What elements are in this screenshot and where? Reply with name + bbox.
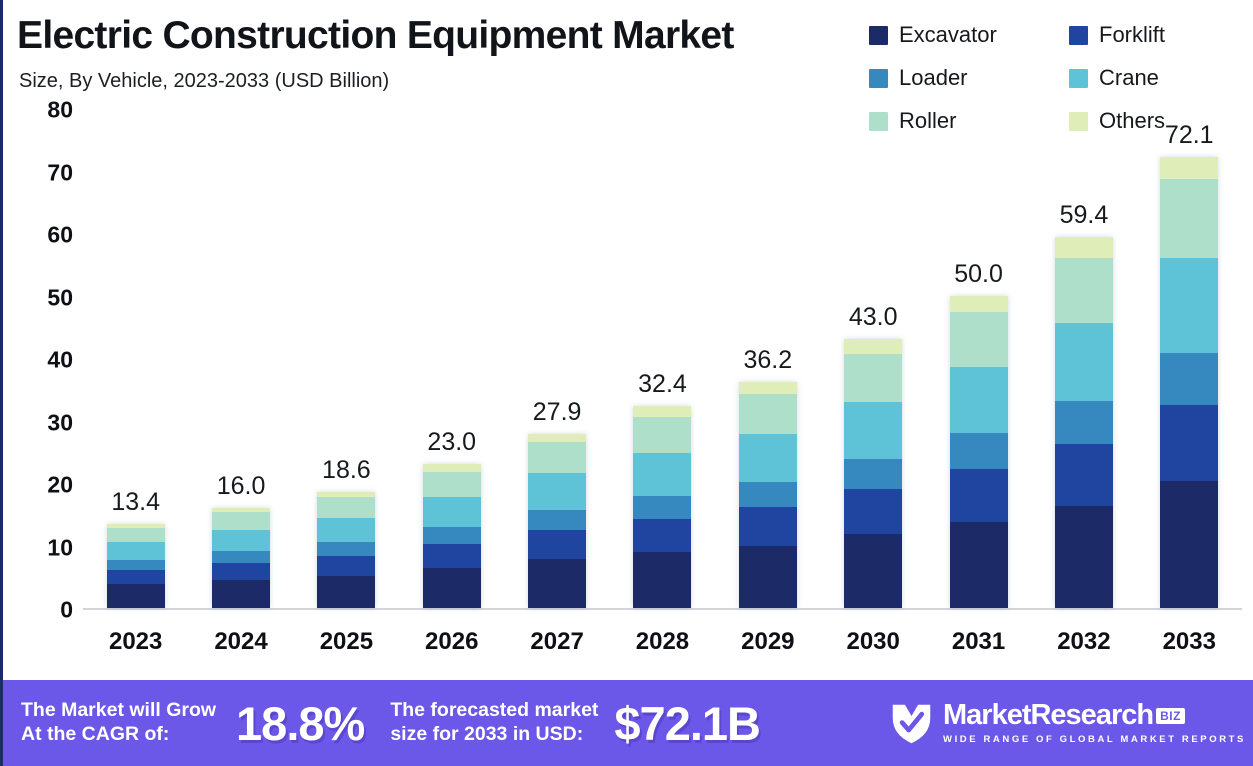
x-axis-tick: 2024 bbox=[197, 628, 285, 656]
bar-column[interactable]: 43.0 bbox=[829, 110, 917, 608]
bar-segment-others[interactable] bbox=[1055, 237, 1113, 258]
bar-value-label: 72.1 bbox=[1165, 121, 1214, 150]
bar-segment-loader[interactable] bbox=[1160, 353, 1218, 405]
bar-segment-crane[interactable] bbox=[1160, 258, 1218, 353]
bar-segment-roller[interactable] bbox=[633, 417, 691, 453]
bar-segment-roller[interactable] bbox=[107, 528, 165, 542]
bar-segment-others[interactable] bbox=[1160, 157, 1218, 179]
chart-subtitle: Size, By Vehicle, 2023-2033 (USD Billion… bbox=[19, 70, 389, 93]
bar-segment-excavator[interactable] bbox=[317, 576, 375, 609]
bar-segment-forklift[interactable] bbox=[423, 544, 481, 568]
bar-segment-others[interactable] bbox=[528, 434, 586, 443]
x-axis-tick: 2023 bbox=[92, 628, 180, 656]
bar-value-label: 23.0 bbox=[427, 428, 476, 457]
y-axis-tick: 60 bbox=[47, 222, 73, 249]
x-axis-tick: 2030 bbox=[829, 628, 917, 656]
bar-segment-others[interactable] bbox=[844, 339, 902, 354]
forecast-label-line1: The forecasted market bbox=[390, 699, 598, 721]
bar-stack[interactable] bbox=[423, 464, 481, 608]
bar-segment-excavator[interactable] bbox=[212, 580, 270, 608]
cagr-label-line1: The Market will Grow bbox=[21, 699, 216, 721]
bar-segment-excavator[interactable] bbox=[1055, 506, 1113, 608]
bar-segment-roller[interactable] bbox=[739, 394, 797, 434]
bar-segment-forklift[interactable] bbox=[212, 563, 270, 580]
bar-segment-excavator[interactable] bbox=[633, 552, 691, 608]
y-axis-tick: 40 bbox=[47, 347, 73, 374]
bar-column[interactable]: 23.0 bbox=[408, 110, 496, 608]
bar-segment-forklift[interactable] bbox=[844, 489, 902, 534]
bar-stack[interactable] bbox=[1160, 157, 1218, 608]
legend-swatch-icon bbox=[1069, 69, 1088, 88]
y-axis-tick: 70 bbox=[47, 159, 73, 186]
bar-segment-excavator[interactable] bbox=[1160, 481, 1218, 608]
forecast-value: $72.1B bbox=[614, 700, 760, 747]
forecast-label: The forecasted market size for 2033 in U… bbox=[390, 699, 598, 747]
bar-column[interactable]: 13.4 bbox=[92, 110, 180, 608]
bar-segment-excavator[interactable] bbox=[528, 559, 586, 608]
bar-segment-crane[interactable] bbox=[1055, 323, 1113, 401]
bar-group: 13.416.018.623.027.932.436.243.050.059.4… bbox=[83, 110, 1242, 608]
bar-segment-others[interactable] bbox=[423, 464, 481, 472]
bar-segment-excavator[interactable] bbox=[739, 546, 797, 609]
logo-name: MarketResearch bbox=[943, 701, 1153, 730]
bar-stack[interactable] bbox=[950, 296, 1008, 609]
bar-segment-forklift[interactable] bbox=[1055, 444, 1113, 507]
bar-segment-excavator[interactable] bbox=[423, 568, 481, 608]
bar-segment-loader[interactable] bbox=[739, 482, 797, 508]
bar-segment-loader[interactable] bbox=[844, 459, 902, 490]
bar-segment-forklift[interactable] bbox=[950, 469, 1008, 522]
bar-segment-crane[interactable] bbox=[317, 518, 375, 542]
bar-value-label: 32.4 bbox=[638, 370, 687, 399]
bar-value-label: 59.4 bbox=[1060, 201, 1109, 230]
bar-segment-loader[interactable] bbox=[317, 542, 375, 556]
bar-segment-loader[interactable] bbox=[212, 551, 270, 563]
logo-badge: BIZ bbox=[1156, 708, 1185, 724]
legend-item-label: Crane bbox=[1099, 65, 1159, 91]
plot-area: 01020304050607080 13.416.018.623.027.932… bbox=[3, 110, 1253, 620]
bar-column[interactable]: 59.4 bbox=[1040, 110, 1128, 608]
bar-stack[interactable] bbox=[633, 406, 691, 609]
cagr-value: 18.8% bbox=[236, 700, 364, 747]
cagr-label-line2: At the CAGR of: bbox=[21, 723, 169, 745]
bar-segment-excavator[interactable] bbox=[844, 534, 902, 608]
x-axis-tick: 2028 bbox=[618, 628, 706, 656]
y-axis: 01020304050607080 bbox=[3, 110, 83, 610]
bar-value-label: 50.0 bbox=[954, 260, 1003, 289]
bar-segment-loader[interactable] bbox=[1055, 401, 1113, 444]
bar-segment-forklift[interactable] bbox=[107, 570, 165, 584]
bar-column[interactable]: 36.2 bbox=[724, 110, 812, 608]
bar-value-label: 27.9 bbox=[533, 398, 582, 427]
bar-stack[interactable] bbox=[844, 339, 902, 608]
bar-stack[interactable] bbox=[739, 382, 797, 608]
bar-value-label: 36.2 bbox=[743, 346, 792, 375]
bar-value-label: 18.6 bbox=[322, 456, 371, 485]
bar-segment-roller[interactable] bbox=[1055, 258, 1113, 323]
page-title: Electric Construction Equipment Market bbox=[17, 14, 734, 58]
y-axis-tick: 20 bbox=[47, 472, 73, 499]
legend-item-label: Excavator bbox=[899, 22, 997, 48]
bar-segment-roller[interactable] bbox=[317, 497, 375, 518]
bar-column[interactable]: 16.0 bbox=[197, 110, 285, 608]
bar-segment-forklift[interactable] bbox=[633, 519, 691, 553]
cagr-label: The Market will Grow At the CAGR of: bbox=[21, 699, 216, 747]
chart-canvas: Electric Construction Equipment Market S… bbox=[3, 0, 1253, 766]
y-axis-tick: 50 bbox=[47, 284, 73, 311]
x-axis-tick: 2033 bbox=[1145, 628, 1233, 656]
bar-value-label: 16.0 bbox=[217, 472, 266, 501]
bar-segment-crane[interactable] bbox=[844, 402, 902, 459]
bar-segment-crane[interactable] bbox=[633, 453, 691, 496]
bar-value-label: 13.4 bbox=[111, 488, 160, 517]
logo-title-row: MarketResearch BIZ bbox=[943, 701, 1246, 730]
bar-segment-others[interactable] bbox=[633, 406, 691, 418]
bar-segment-others[interactable] bbox=[950, 296, 1008, 312]
legend-item-label: Loader bbox=[899, 65, 968, 91]
x-axis-tick: 2029 bbox=[724, 628, 812, 656]
forecast-label-line2: size for 2033 in USD: bbox=[390, 723, 583, 745]
y-axis-tick: 30 bbox=[47, 409, 73, 436]
axis-baseline bbox=[83, 608, 1242, 610]
bar-segment-forklift[interactable] bbox=[528, 530, 586, 559]
bar-column[interactable]: 32.4 bbox=[618, 110, 706, 608]
bar-segment-loader[interactable] bbox=[423, 527, 481, 543]
bar-value-label: 43.0 bbox=[849, 303, 898, 332]
legend-swatch-icon bbox=[869, 26, 888, 45]
bar-stack[interactable] bbox=[212, 508, 270, 608]
x-axis-tick: 2025 bbox=[302, 628, 390, 656]
bar-segment-loader[interactable] bbox=[950, 433, 1008, 469]
bar-column[interactable]: 18.6 bbox=[302, 110, 390, 608]
bar-segment-crane[interactable] bbox=[423, 497, 481, 527]
bar-segment-crane[interactable] bbox=[107, 542, 165, 560]
bar-segment-loader[interactable] bbox=[107, 560, 165, 570]
bar-segment-roller[interactable] bbox=[528, 442, 586, 473]
bar-stack[interactable] bbox=[107, 524, 165, 608]
y-axis-tick: 10 bbox=[47, 534, 73, 561]
bar-segment-crane[interactable] bbox=[212, 530, 270, 551]
bar-column[interactable]: 50.0 bbox=[935, 110, 1023, 608]
bar-segment-forklift[interactable] bbox=[317, 556, 375, 575]
bar-segment-crane[interactable] bbox=[950, 367, 1008, 433]
bar-segment-loader[interactable] bbox=[528, 510, 586, 530]
legend-item-forklift[interactable]: Forklift bbox=[1069, 22, 1249, 48]
bar-stack[interactable] bbox=[528, 434, 586, 608]
bar-segment-roller[interactable] bbox=[950, 312, 1008, 367]
bar-segment-roller[interactable] bbox=[212, 512, 270, 530]
bar-segment-forklift[interactable] bbox=[739, 507, 797, 545]
legend-item-loader[interactable]: Loader bbox=[869, 65, 1069, 91]
x-axis: 2023202420252026202720282029203020312032… bbox=[83, 620, 1242, 664]
x-axis-tick: 2026 bbox=[408, 628, 496, 656]
bar-segment-crane[interactable] bbox=[528, 473, 586, 510]
bar-segment-crane[interactable] bbox=[739, 434, 797, 482]
x-axis-tick: 2027 bbox=[513, 628, 601, 656]
bar-column[interactable]: 72.1 bbox=[1145, 110, 1233, 608]
brand-logo[interactable]: MarketResearch BIZ WIDE RANGE OF GLOBAL … bbox=[889, 701, 1246, 746]
y-axis-tick: 0 bbox=[60, 597, 73, 624]
bar-segment-loader[interactable] bbox=[633, 496, 691, 519]
bar-segment-forklift[interactable] bbox=[1160, 405, 1218, 481]
bar-segment-roller[interactable] bbox=[844, 354, 902, 402]
bar-column[interactable]: 27.9 bbox=[513, 110, 601, 608]
legend-item-excavator[interactable]: Excavator bbox=[869, 22, 1069, 48]
logo-text: MarketResearch BIZ WIDE RANGE OF GLOBAL … bbox=[943, 701, 1246, 745]
x-axis-tick: 2032 bbox=[1040, 628, 1128, 656]
legend-item-label: Forklift bbox=[1099, 22, 1165, 48]
y-axis-tick: 80 bbox=[47, 97, 73, 124]
shield-check-icon bbox=[889, 701, 934, 746]
bar-stack[interactable] bbox=[1055, 237, 1113, 608]
legend-item-crane[interactable]: Crane bbox=[1069, 65, 1249, 91]
legend-swatch-icon bbox=[1069, 26, 1088, 45]
bar-stack[interactable] bbox=[317, 492, 375, 608]
bar-segment-roller[interactable] bbox=[423, 472, 481, 497]
legend-swatch-icon bbox=[869, 69, 888, 88]
bar-segment-excavator[interactable] bbox=[107, 584, 165, 608]
bar-segment-others[interactable] bbox=[739, 382, 797, 395]
logo-tagline: WIDE RANGE OF GLOBAL MARKET REPORTS bbox=[943, 734, 1246, 745]
bar-segment-excavator[interactable] bbox=[950, 522, 1008, 608]
x-axis-tick: 2031 bbox=[935, 628, 1023, 656]
footer-banner: The Market will Grow At the CAGR of: 18.… bbox=[3, 680, 1253, 766]
plot-grid: 13.416.018.623.027.932.436.243.050.059.4… bbox=[83, 110, 1242, 610]
bar-segment-roller[interactable] bbox=[1160, 179, 1218, 258]
